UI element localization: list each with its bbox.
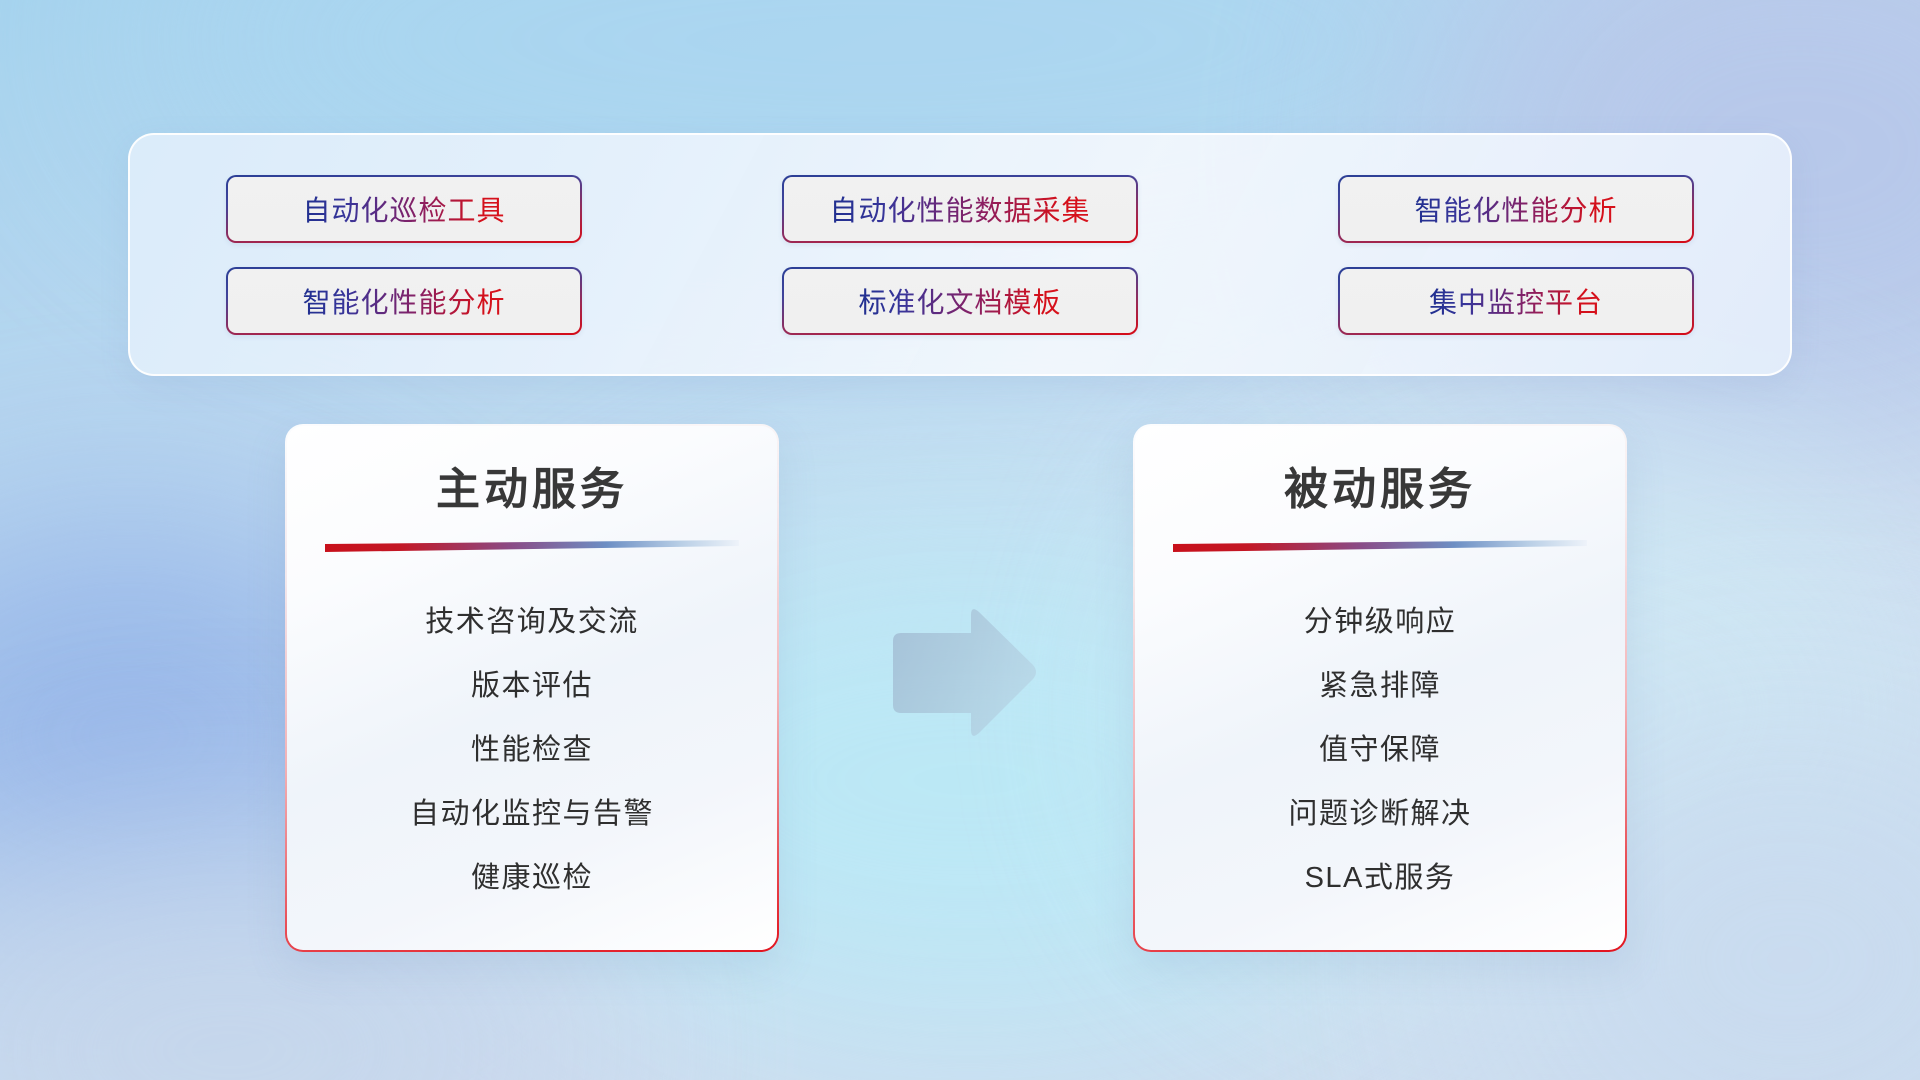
list-item: 紧急排障 [1161, 668, 1599, 704]
list-item: 版本评估 [313, 668, 751, 704]
arrow-right-icon [883, 603, 1039, 743]
service-card-title: 主动服务 [313, 466, 751, 514]
card-divider [1173, 540, 1587, 552]
service-card-list: 技术咨询及交流 版本评估 性能检查 自动化监控与告警 健康巡检 [313, 576, 751, 924]
list-item: 性能检查 [313, 732, 751, 768]
capability-pill-label: 集中监控平台 [1429, 281, 1603, 321]
capability-pill-automated-inspection-tool[interactable]: 自动化巡检工具 [226, 175, 582, 243]
capability-pill-centralized-monitoring-platform[interactable]: 集中监控平台 [1338, 267, 1694, 335]
capability-pill-automated-performance-collection[interactable]: 自动化性能数据采集 [782, 175, 1138, 243]
list-item: 值守保障 [1161, 732, 1599, 768]
service-card-proactive: 主动服务 技术咨询及交流 版本评估 性能检查 [285, 424, 779, 952]
capability-pill-intelligent-performance-analysis-2[interactable]: 智能化性能分析 [226, 267, 582, 335]
list-item: SLA式服务 [1161, 860, 1599, 896]
capability-pill-standard-doc-template[interactable]: 标准化文档模板 [782, 267, 1138, 335]
list-item: 问题诊断解决 [1161, 796, 1599, 832]
list-item: 分钟级响应 [1161, 604, 1599, 640]
capability-row-2: 智能化性能分析 标准化文档模板 集中监控平台 [130, 267, 1790, 335]
capability-pill-intelligent-performance-analysis[interactable]: 智能化性能分析 [1338, 175, 1694, 243]
slide-canvas: 自动化巡检工具 自动化性能数据采集 智能化性能分析 智能化性能分析 标准化文档模… [0, 0, 1920, 1080]
service-card-title: 被动服务 [1161, 466, 1599, 514]
list-item: 自动化监控与告警 [313, 796, 751, 832]
capability-pill-label: 标准化文档模板 [858, 281, 1061, 321]
service-card-reactive: 被动服务 分钟级响应 紧急排障 值守保障 [1133, 424, 1627, 952]
card-divider [325, 540, 739, 552]
capability-panel: 自动化巡检工具 自动化性能数据采集 智能化性能分析 智能化性能分析 标准化文档模… [128, 133, 1792, 376]
list-item: 技术咨询及交流 [313, 604, 751, 640]
capability-row-1: 自动化巡检工具 自动化性能数据采集 智能化性能分析 [130, 175, 1790, 243]
capability-pill-label: 自动化巡检工具 [302, 189, 505, 229]
service-card-list: 分钟级响应 紧急排障 值守保障 问题诊断解决 SLA式服务 [1161, 576, 1599, 924]
list-item: 健康巡检 [313, 860, 751, 896]
capability-pill-label: 智能化性能分析 [1414, 189, 1617, 229]
capability-pill-label: 智能化性能分析 [302, 281, 505, 321]
capability-pill-label: 自动化性能数据采集 [829, 189, 1090, 229]
